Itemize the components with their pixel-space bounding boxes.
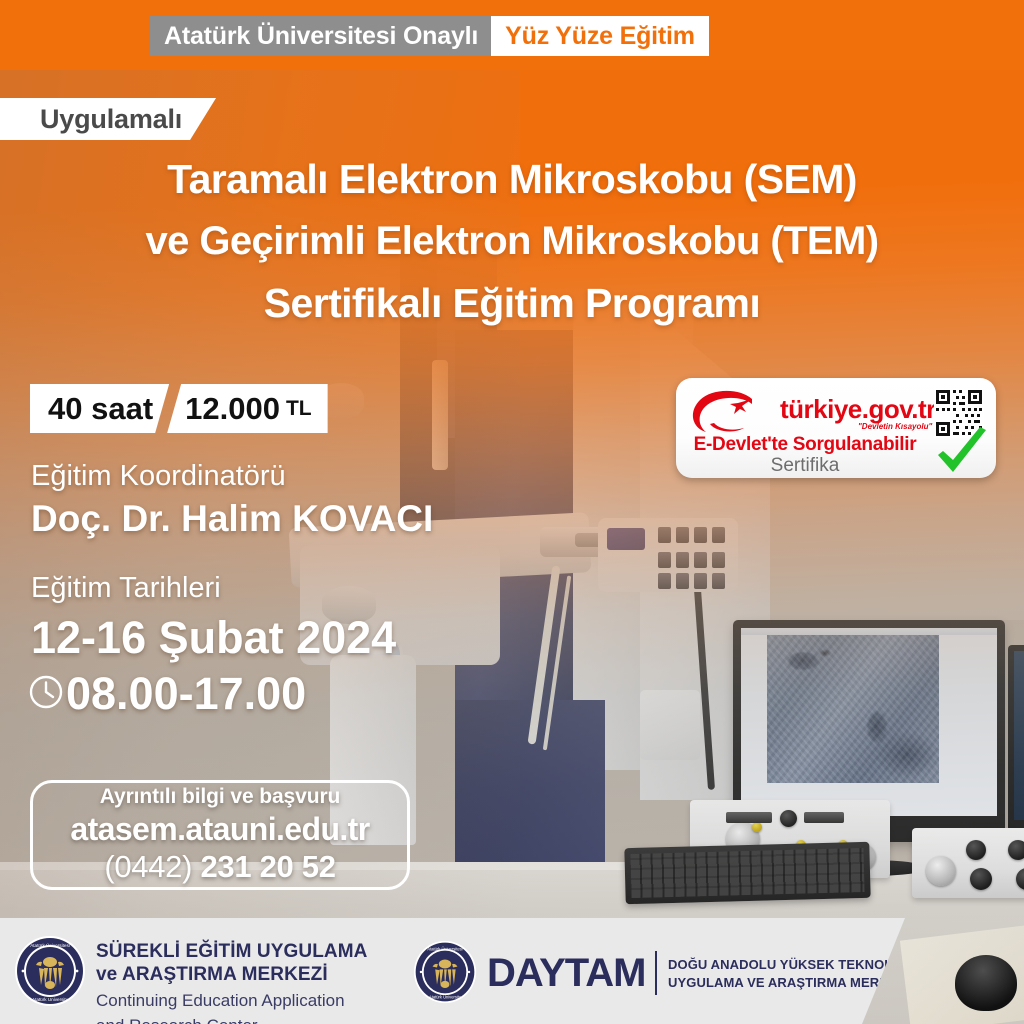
daytam-line-1: DOĞU ANADOLU YÜKSEK TEKNOLOJİ (668, 956, 914, 974)
page-title: Taramalı Elektron Mikroskobu (SEM) ve Ge… (0, 148, 1024, 334)
coordinator-label: Eğitim Koordinatörü (31, 460, 286, 493)
daytam-footer-text: DOĞU ANADOLU YÜKSEK TEKNOLOJİ UYGULAMA V… (668, 956, 914, 992)
phone-area-code: (0442) (104, 849, 192, 884)
svg-text:Atatürk Üniversitesi: Atatürk Üniversitesi (30, 942, 70, 948)
green-checkmark-icon (930, 424, 992, 486)
ataturk-university-seal-icon-2: Atatürk Üniversitesi Atatürk University (413, 940, 477, 1004)
applied-tag: Uygulamalı (0, 98, 216, 140)
atasem-footer-text: SÜREKLİ EĞİTİM UYGULAMA ve ARAŞTIRMA MER… (96, 940, 367, 1024)
dates-label: Eğitim Tarihleri (31, 572, 221, 605)
phone-number: 231 20 52 (200, 849, 335, 884)
header-format-label: Yüz Yüze Eğitim (491, 16, 709, 56)
edevlet-certificate-badge: türkiye.gov.tr "Devletin Kısayolu" E-Dev… (676, 378, 996, 478)
contact-website[interactable]: atasem.atauni.edu.tr (70, 811, 369, 848)
dates-value: 12-16 Şubat 2024 (31, 612, 396, 664)
atasem-line-2: ve ARAŞTIRMA MERKEZİ (96, 963, 367, 986)
contact-box[interactable]: Ayrıntılı bilgi ve başvuru atasem.atauni… (30, 780, 410, 890)
poster-root: Atatürk Üniversitesi Onaylı Yüz Yüze Eği… (0, 0, 1024, 1024)
price-duration-bar: 40 saat 12.000 TL (30, 384, 328, 433)
daytam-acronym: DAYTAM (487, 951, 645, 996)
header-banner: Atatürk Üniversitesi Onaylı Yüz Yüze Eği… (150, 16, 709, 56)
price-badge: 12.000 TL (167, 384, 327, 433)
title-line-1: Taramalı Elektron Mikroskobu (SEM) (0, 148, 1024, 210)
header-approved-label: Atatürk Üniversitesi Onaylı (150, 16, 491, 56)
title-line-3: Sertifikalı Eğitim Programı (0, 272, 1024, 334)
duration-badge: 40 saat (30, 384, 169, 433)
daytam-divider (655, 951, 657, 995)
atasem-line-3: Continuing Education Application (96, 990, 367, 1011)
contact-phone[interactable]: (0442) 231 20 52 (104, 849, 335, 885)
contact-heading: Ayrıntılı bilgi ve başvuru (100, 785, 341, 809)
edevlet-brand: türkiye.gov.tr (780, 394, 936, 425)
svg-text:Atatürk University: Atatürk University (32, 997, 69, 1002)
turkiye-gov-tr-logo-icon (690, 390, 782, 436)
title-line-2: ve Geçirimli Elektron Mikroskobu (TEM) (0, 210, 1024, 272)
edevlet-certificate-text: Sertifika (676, 455, 934, 477)
price-currency: TL (286, 397, 312, 421)
coordinator-name: Doç. Dr. Halim KOVACI (31, 498, 433, 540)
price-amount: 12.000 (185, 391, 280, 427)
ataturk-university-seal-icon: Atatürk Üniversitesi Atatürk University (14, 935, 86, 1007)
time-value: 08.00-17.00 (66, 668, 306, 720)
edevlet-queryable-text: E-Devlet'te Sorgulanabilir (676, 434, 934, 456)
atasem-line-4: and Research Center (96, 1015, 367, 1024)
clock-icon (28, 674, 64, 710)
edevlet-slogan: "Devletin Kısayolu" (858, 422, 932, 431)
atasem-line-1: SÜREKLİ EĞİTİM UYGULAMA (96, 940, 367, 963)
svg-text:Atatürk University: Atatürk University (429, 995, 462, 1000)
svg-text:Atatürk Üniversitesi: Atatürk Üniversitesi (427, 947, 462, 952)
